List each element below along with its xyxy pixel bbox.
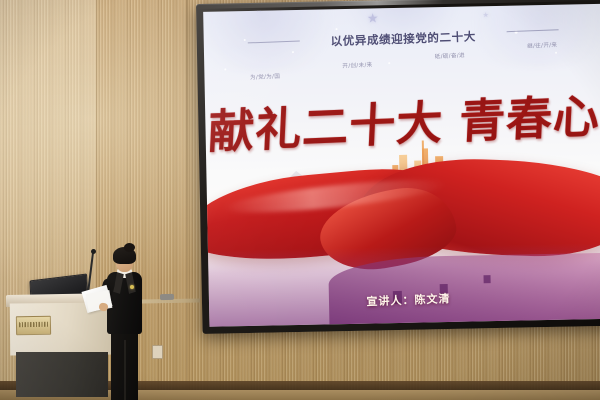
star-icon: ★ [367, 11, 379, 24]
great-wall-tower [484, 275, 491, 283]
microphone-icon [91, 249, 96, 254]
podium-plaque-text [19, 322, 48, 328]
poster-sublabel: 砥/砺/奋/进 [435, 51, 465, 60]
wall-seam [186, 0, 188, 400]
podium-plaque [16, 316, 51, 336]
poster-content: ★ ★ ★ 以优异成绩迎接党的二十大 为/党/为/国 开/创/未/来 砥/砺/奋… [203, 4, 600, 327]
sparkle-dot [335, 28, 337, 30]
poster-sublabel: 为/党/为/国 [250, 72, 280, 81]
podium-base [16, 352, 108, 397]
poster-sublabel: 继/往/开/来 [527, 40, 557, 49]
presentation-screen[interactable]: ★ ★ ★ 以优异成绩迎接党的二十大 为/党/为/国 开/创/未/来 砥/砺/奋… [196, 0, 600, 334]
shelf-object [160, 294, 174, 300]
photo-scene: ★ ★ ★ 以优异成绩迎接党的二十大 为/党/为/国 开/创/未/来 砥/砺/奋… [0, 0, 600, 400]
speaker-leg-seam [124, 340, 126, 400]
star-icon: ★ [483, 12, 489, 19]
lapel-badge-icon [130, 285, 134, 289]
wall-outlet [152, 345, 163, 359]
poster-sublabel: 开/创/未/来 [342, 60, 372, 69]
speaker-hair-bun [124, 243, 135, 252]
